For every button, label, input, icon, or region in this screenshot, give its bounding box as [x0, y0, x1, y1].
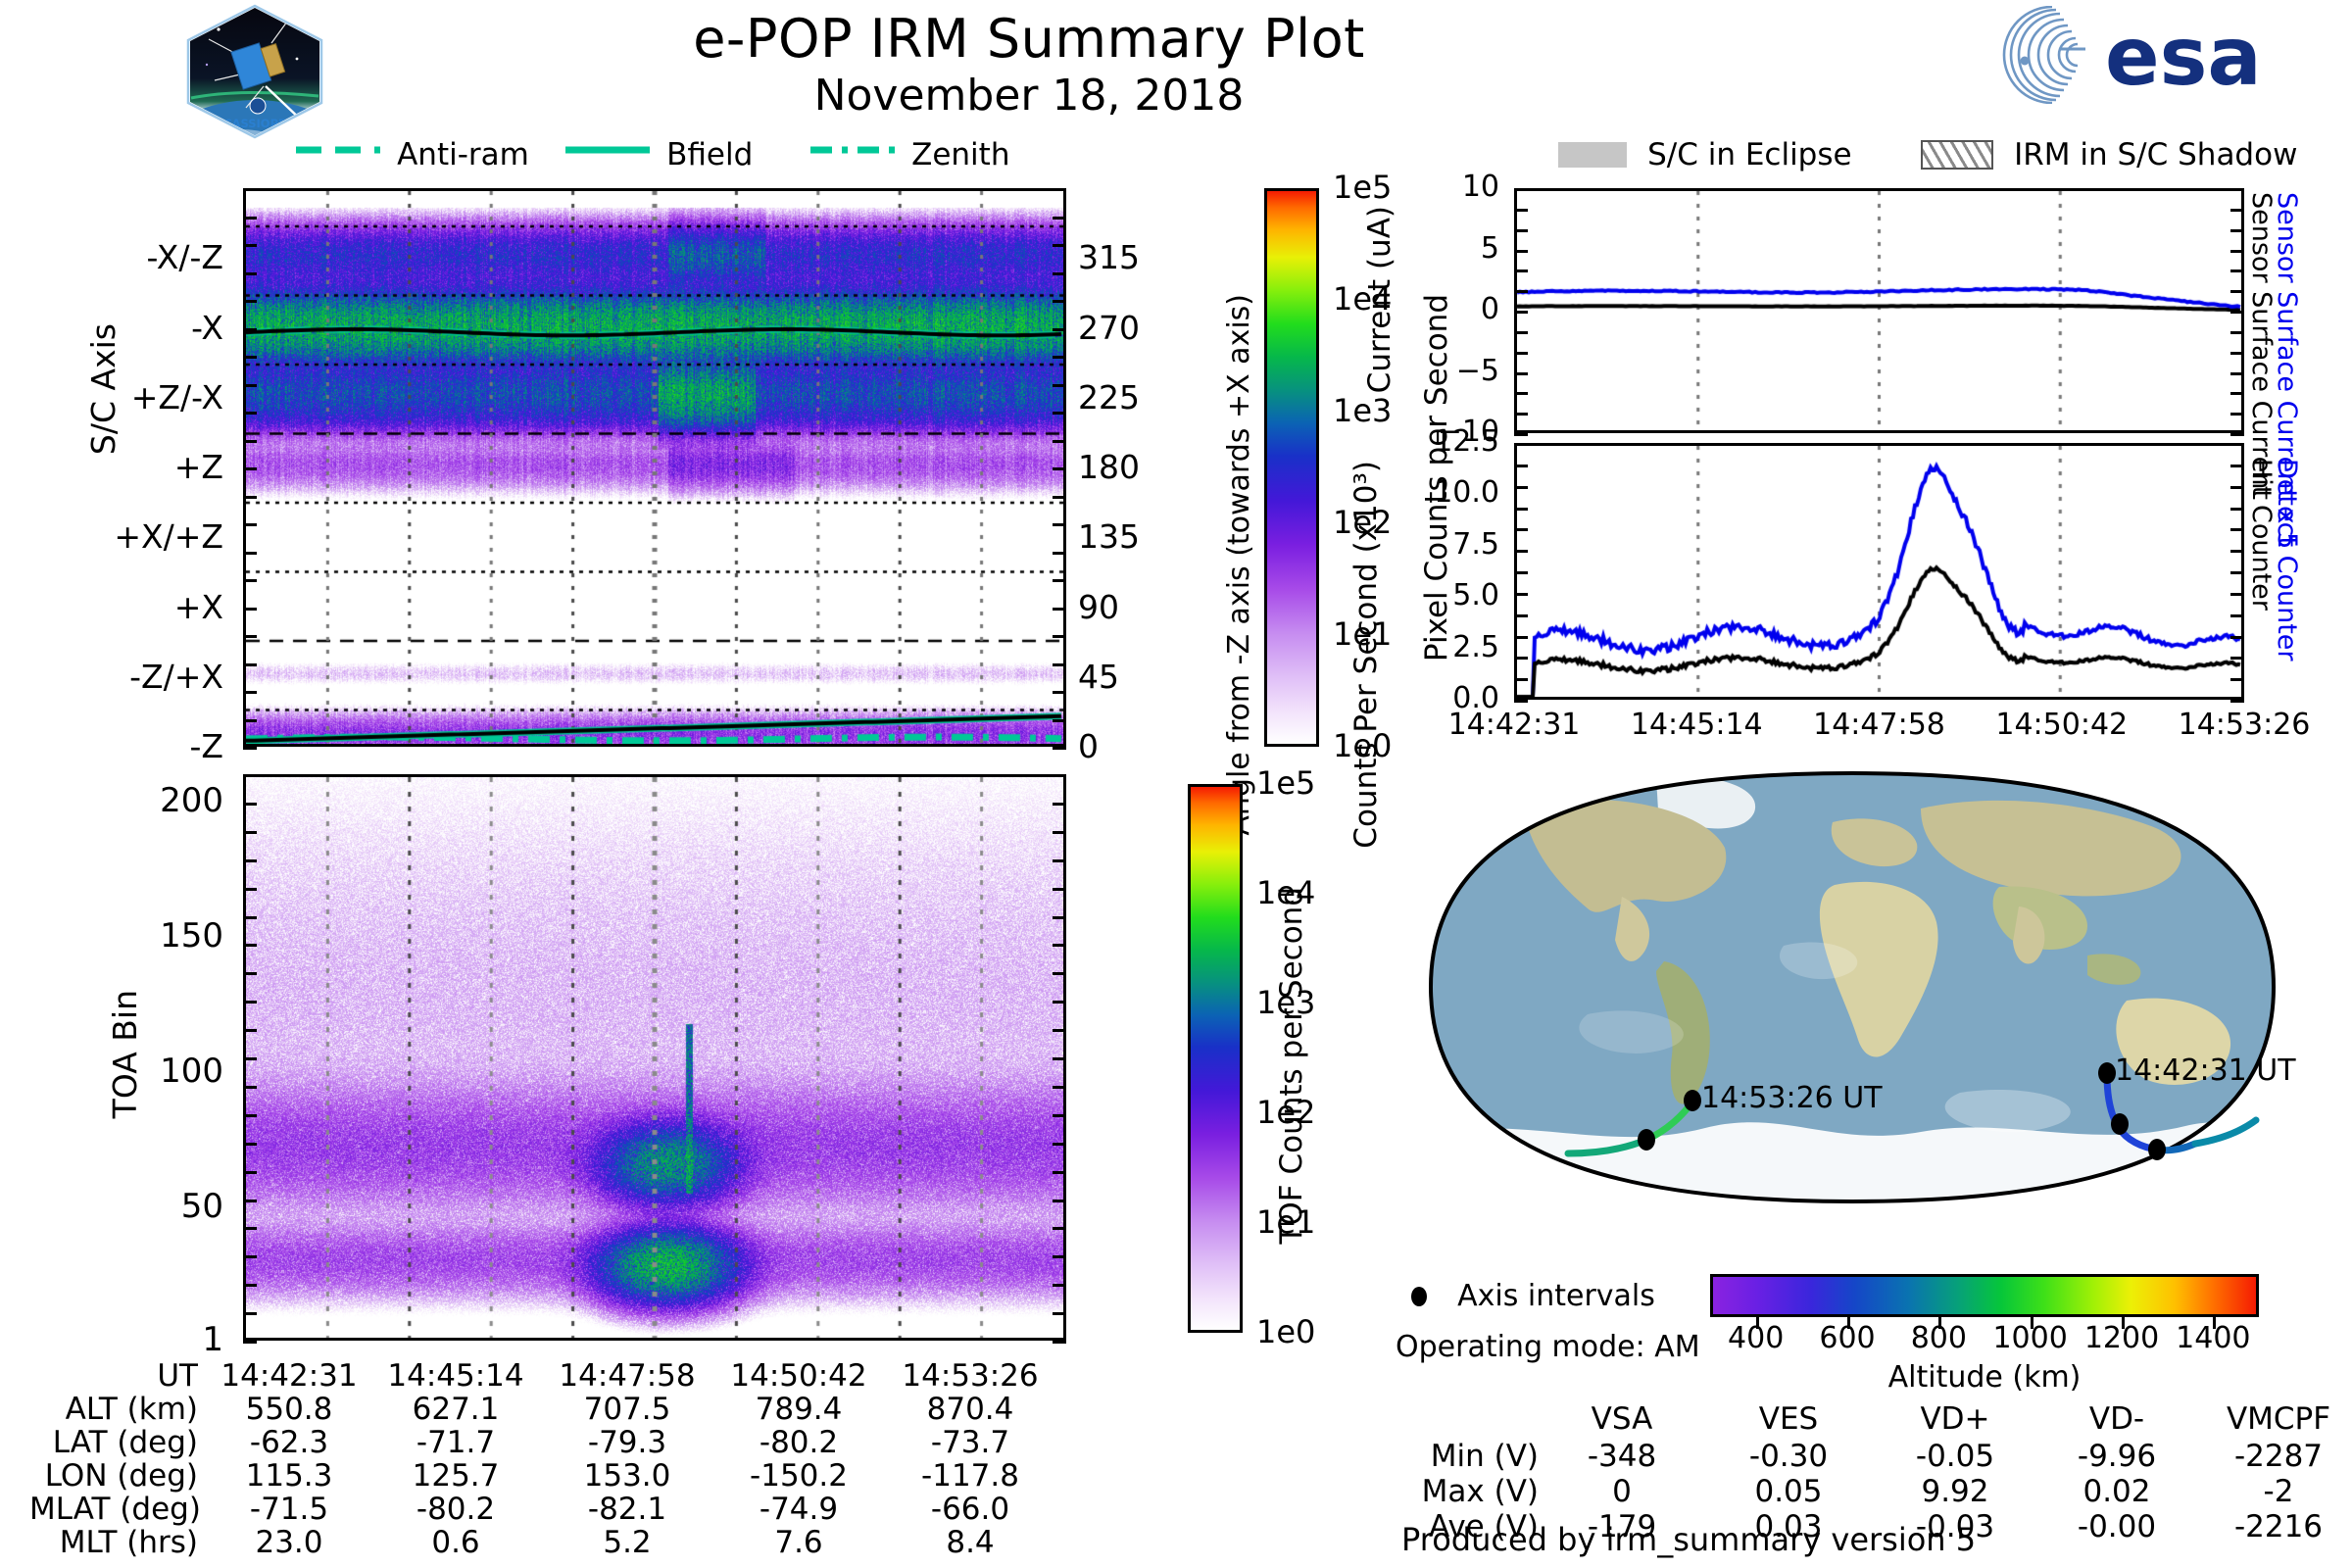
map-start-time-label: 14:42:31 UT [2115, 1053, 2296, 1088]
axis-tick [2230, 188, 2244, 191]
ephem-cell-5-2: 5.2 [549, 1525, 706, 1560]
axis-interval-marker [1684, 1090, 1701, 1111]
ephem-cell-5-4: 8.4 [892, 1525, 1049, 1560]
operating-mode-label: Operating mode: AM [1396, 1330, 1700, 1364]
axis-tick [2230, 614, 2244, 617]
axis-tick [1053, 1001, 1066, 1004]
voltage-col-header-4: VMCPF [2205, 1401, 2352, 1437]
axis-tick [1053, 663, 1066, 666]
axis-tick [2230, 443, 2244, 446]
axis-tick [1514, 372, 1528, 375]
ephem-cell-1-1: 627.1 [377, 1392, 534, 1427]
voltage-cell-1-0: 0 [1548, 1474, 1695, 1509]
axis-tick [243, 663, 257, 666]
eclipse-swatch-icon [1558, 142, 1627, 168]
axis-tick [1514, 311, 1528, 314]
axis-tick [1053, 1057, 1066, 1060]
angle-angle-tick-90: 90 [1078, 588, 1166, 626]
axis-tick [2230, 433, 2244, 436]
ephem-cell-3-0: 115.3 [211, 1458, 367, 1494]
axis-tick [1053, 217, 1066, 220]
toa-ytick-1: 1 [0, 1320, 223, 1359]
axis-tick [243, 523, 257, 526]
axis-tick [2230, 593, 2244, 596]
voltage-row-label-0: Min (V) [1401, 1439, 1539, 1474]
axis-tick [2230, 571, 2244, 574]
axis-tick [1053, 1171, 1066, 1174]
axis-interval-marker [2111, 1113, 2129, 1135]
ephem-cell-4-3: -74.9 [720, 1492, 877, 1527]
ephem-cell-2-3: -80.2 [720, 1425, 877, 1460]
altitude-colorbar-tick-mark [2031, 1317, 2033, 1329]
axis-tick [1053, 244, 1066, 247]
axis-tick [243, 1114, 257, 1117]
axis-tick [1514, 331, 1528, 334]
axis-tick [2230, 550, 2244, 553]
axis-tick [1514, 229, 1528, 232]
axis-tick [1053, 888, 1066, 891]
axis-tick [243, 831, 257, 834]
axis-tick [1053, 608, 1066, 611]
axis-tick [1053, 384, 1066, 387]
axis-tick [243, 440, 257, 443]
axis-tick [243, 272, 257, 275]
voltage-cell-1-4: -2 [2205, 1474, 2352, 1509]
legend-item-zenith: Zenith [808, 137, 1009, 172]
axis-interval-marker [2148, 1139, 2166, 1160]
axis-tick [1514, 508, 1528, 511]
axis-tick [243, 300, 257, 303]
axis-tick [1053, 635, 1066, 638]
angle-angle-tick-225: 225 [1078, 378, 1166, 416]
axis-tick [1053, 1029, 1066, 1032]
altitude-colorbar-tick-mark [2213, 1317, 2216, 1329]
ephem-cell-3-3: -150.2 [720, 1458, 877, 1494]
esa-logo-text: esa [2105, 11, 2262, 104]
axis-tick [243, 1227, 257, 1230]
anti-ram-line-icon [294, 140, 382, 164]
orbit-map: 14:42:31 UT 14:53:26 UT [1411, 769, 2293, 1205]
tof-colorbar-tick-1e5: 1e5 [1256, 764, 1315, 802]
voltage-cell-2-3: -0.00 [2043, 1509, 2190, 1544]
axis-tick [1053, 579, 1066, 582]
ephem-row-label-4: MLAT (deg) [29, 1492, 198, 1527]
voltage-cell-0-1: -0.30 [1715, 1439, 1862, 1474]
tof-colorbar-tick-1e0: 1e0 [1256, 1313, 1315, 1350]
counts-plot [1514, 443, 2244, 700]
axis-tick [1514, 392, 1528, 395]
toa-ytick-labels: 200150100501 [0, 0, 243, 1372]
ephem-cell-2-0: -62.3 [211, 1425, 367, 1460]
axis-tick [1514, 614, 1528, 617]
axis-tick [243, 1029, 257, 1032]
ephem-cell-1-3: 789.4 [720, 1392, 877, 1427]
axis-tick [1053, 440, 1066, 443]
ephem-cell-5-1: 0.6 [377, 1525, 534, 1560]
axis-tick [1514, 352, 1528, 355]
axis-tick [1053, 272, 1066, 275]
ephem-cell-5-3: 7.6 [720, 1525, 877, 1560]
ephem-cell-0-1: 14:45:14 [377, 1358, 534, 1394]
angle-spectrogram-plot [243, 188, 1066, 747]
axis-tick [1053, 300, 1066, 303]
axis-tick [1514, 250, 1528, 253]
counts-xtick-3: 14:50:42 [1969, 708, 2155, 742]
voltage-cell-0-4: -2287 [2205, 1439, 2352, 1474]
ephem-row-label-3: LON (deg) [29, 1458, 198, 1494]
axis-tick [243, 244, 257, 247]
axis-tick [1053, 972, 1066, 975]
axis-tick [243, 691, 257, 694]
altitude-colorbar [1710, 1274, 2259, 1317]
ephem-cell-4-2: -82.1 [549, 1492, 706, 1527]
axis-tick [243, 859, 257, 862]
axis-tick [1053, 1200, 1066, 1202]
axis-tick [2230, 508, 2244, 511]
axis-tick [1053, 859, 1066, 862]
angle-ytick-right-labels: 31527022518013590450 [1068, 0, 1225, 784]
axis-tick [243, 803, 257, 806]
ephem-row-label-1: ALT (km) [29, 1392, 198, 1427]
angle-angle-tick-135: 135 [1078, 517, 1166, 556]
axis-tick [1514, 636, 1528, 639]
bfield-line-icon [563, 140, 652, 164]
axis-tick [2230, 372, 2244, 375]
counts-ytick-labels: 12.510.07.55.02.50.0 [1372, 0, 1509, 784]
axis-tick [2230, 209, 2244, 212]
altitude-colorbar-tick-mark [2122, 1317, 2125, 1329]
toa-spectrogram-plot [243, 774, 1066, 1341]
ephem-cell-2-2: -79.3 [549, 1425, 706, 1460]
ephem-cell-1-0: 550.8 [211, 1392, 367, 1427]
zenith-line-icon [808, 140, 897, 164]
axis-tick [243, 412, 257, 415]
axis-tick [2230, 465, 2244, 467]
axis-tick [1514, 209, 1528, 212]
counts-ytick-4: 2.5 [1372, 630, 1499, 664]
axis-tick [243, 888, 257, 891]
axis-tick [243, 328, 257, 331]
legend-item-sc-eclipse: S/C in Eclipse [1558, 137, 1852, 172]
axis-tick [243, 1001, 257, 1004]
legend-item-bfield: Bfield [563, 137, 753, 172]
axis-tick [2230, 331, 2244, 334]
legend-label-irm-shadow: IRM in S/C Shadow [2014, 137, 2297, 172]
axis-tick [1053, 1312, 1066, 1315]
axis-tick [2230, 657, 2244, 660]
axis-tick [1053, 747, 1066, 750]
axis-tick [1053, 1114, 1066, 1117]
voltage-cell-1-3: 0.02 [2043, 1474, 2190, 1509]
legend-label-zenith: Zenith [911, 137, 1009, 172]
axis-tick [1053, 1143, 1066, 1146]
toa-ytick-100: 100 [0, 1052, 223, 1091]
axis-tick [243, 188, 257, 191]
axis-tick [1053, 552, 1066, 555]
axis-tick [1053, 691, 1066, 694]
axis-interval-marker [2098, 1062, 2116, 1084]
axis-tick [1053, 188, 1066, 191]
axis-tick [1053, 1341, 1066, 1344]
counts-ytick-1: 10.0 [1372, 475, 1499, 510]
axis-tick [1053, 803, 1066, 806]
ephem-cell-1-2: 707.5 [549, 1392, 706, 1427]
axis-tick [1514, 528, 1528, 531]
axis-tick [243, 579, 257, 582]
axis-tick [2230, 678, 2244, 681]
axis-tick [1514, 465, 1528, 467]
angle-angle-tick-270: 270 [1078, 309, 1166, 347]
axis-tick [2230, 352, 2244, 355]
counts-xtick-1: 14:45:14 [1603, 708, 1789, 742]
axis-tick [1514, 443, 1528, 446]
axis-tick [1053, 328, 1066, 331]
counts-ytick-3: 5.0 [1372, 578, 1499, 612]
axis-tick [1514, 188, 1528, 191]
counts-ytick-2: 7.5 [1372, 527, 1499, 562]
legend-item-irm-shadow: IRM in S/C Shadow [1921, 137, 2297, 172]
axis-tick [1514, 413, 1528, 416]
axis-tick [2230, 269, 2244, 272]
toa-ytick-150: 150 [0, 916, 223, 955]
axis-tick [1053, 944, 1066, 947]
ephem-cell-0-2: 14:47:58 [549, 1358, 706, 1394]
axis-tick [2230, 700, 2244, 703]
axis-tick [243, 747, 257, 750]
axis-tick [2230, 392, 2244, 395]
voltage-col-header-0: VSA [1548, 1401, 1695, 1437]
axis-tick [1514, 433, 1528, 436]
counts-right-label-black: Hit Counter [2246, 459, 2277, 611]
axis-tick [1514, 290, 1528, 293]
axis-tick [1053, 356, 1066, 359]
axis-interval-legend-label: Axis intervals [1457, 1279, 1655, 1313]
altitude-colorbar-tick-mark [1938, 1317, 1941, 1329]
axis-tick [243, 356, 257, 359]
axis-tick [1053, 719, 1066, 722]
axis-tick [243, 1312, 257, 1315]
axis-tick [243, 496, 257, 499]
toa-ytick-200: 200 [0, 781, 223, 820]
axis-tick [243, 608, 257, 611]
legend-item-anti-ram: Anti-ram [294, 137, 529, 172]
axis-interval-legend: Axis intervals [1411, 1279, 1655, 1313]
counts-xtick-labels: 14:42:3114:45:1414:47:5814:50:4214:53:26 [0, 708, 2352, 766]
axis-tick [243, 1200, 257, 1202]
axis-tick [243, 944, 257, 947]
axis-tick [1514, 657, 1528, 660]
axis-tick [1053, 831, 1066, 834]
axis-tick [1053, 1255, 1066, 1258]
axis-tick [243, 1143, 257, 1146]
altitude-colorbar-label: Altitude (km) [1710, 1360, 2259, 1395]
counts-xtick-0: 14:42:31 [1421, 708, 1607, 742]
ephem-cell-2-4: -73.7 [892, 1425, 1049, 1460]
axis-tick [1053, 1086, 1066, 1089]
axis-tick [243, 1057, 257, 1060]
axis-tick [1053, 412, 1066, 415]
voltage-cell-0-0: -348 [1548, 1439, 1695, 1474]
legend-label-sc-eclipse: S/C in Eclipse [1647, 137, 1852, 172]
axis-tick [1514, 269, 1528, 272]
voltage-col-header-2: VD+ [1882, 1401, 2029, 1437]
ephem-cell-4-0: -71.5 [211, 1492, 367, 1527]
ephem-cell-3-1: 125.7 [377, 1458, 534, 1494]
voltage-cell-1-2: 9.92 [1882, 1474, 2029, 1509]
axis-tick [1053, 496, 1066, 499]
axis-tick [2230, 250, 2244, 253]
ephem-cell-0-0: 14:42:31 [211, 1358, 367, 1394]
shadow-swatch-icon [1921, 140, 1993, 170]
axis-tick [2230, 413, 2244, 416]
ephem-cell-0-3: 14:50:42 [720, 1358, 877, 1394]
legend-right: S/C in Eclipse IRM in S/C Shadow [1558, 135, 2332, 174]
counts-xtick-2: 14:47:58 [1787, 708, 1973, 742]
axis-tick [1514, 700, 1528, 703]
tof-counts-colorbar [1188, 784, 1243, 1333]
axis-tick [243, 719, 257, 722]
altitude-colorbar-tick-mark [1847, 1317, 1850, 1329]
axis-tick [243, 384, 257, 387]
axis-tick [243, 1171, 257, 1174]
axis-interval-marker [1638, 1129, 1655, 1151]
ephem-cell-0-4: 14:53:26 [892, 1358, 1049, 1394]
voltage-cell-0-3: -9.96 [2043, 1439, 2190, 1474]
axis-tick [243, 916, 257, 919]
axis-tick [243, 774, 257, 777]
legend-label-bfield: Bfield [666, 137, 753, 172]
current-plot [1514, 188, 2244, 433]
axis-tick [1514, 550, 1528, 553]
counts-xtick-4: 14:53:26 [2151, 708, 2337, 742]
ephem-row-label-2: LAT (deg) [29, 1425, 198, 1460]
axis-tick [243, 217, 257, 220]
axis-tick [243, 552, 257, 555]
tof-counts-colorbar-label: TOF Counts per Second [1274, 887, 1309, 1245]
axis-tick [2230, 229, 2244, 232]
esa-logo: esa [1999, 6, 2342, 104]
axis-tick [2230, 636, 2244, 639]
axis-tick [243, 972, 257, 975]
axis-tick [243, 635, 257, 638]
angle-angle-tick-45: 45 [1078, 658, 1166, 696]
ephem-row-label-5: MLT (hrs) [29, 1525, 198, 1560]
axis-tick [243, 467, 257, 470]
ephem-cell-1-4: 870.4 [892, 1392, 1049, 1427]
axis-tick [2230, 311, 2244, 314]
axis-interval-marker-icon [1411, 1287, 1427, 1306]
voltage-cell-0-2: -0.05 [1882, 1439, 2029, 1474]
altitude-colorbar-tick-mark [1756, 1317, 1759, 1329]
ephem-cell-4-1: -80.2 [377, 1492, 534, 1527]
legend-left: Anti-ram Bfield Zenith [294, 137, 1039, 176]
ephem-cell-4-4: -66.0 [892, 1492, 1049, 1527]
axis-tick [243, 1255, 257, 1258]
ephem-row-label-0: UT [29, 1358, 198, 1394]
axis-tick [243, 1284, 257, 1287]
axis-tick [1514, 571, 1528, 574]
axis-tick [2230, 528, 2244, 531]
ephem-cell-2-1: -71.7 [377, 1425, 534, 1460]
axis-tick [243, 1086, 257, 1089]
axis-tick [1514, 486, 1528, 489]
current-right-label-black: Sensor Surface Current [2246, 192, 2277, 500]
axis-tick [1053, 1227, 1066, 1230]
produced-by-footer: Produced by irm_summary version 5 [1401, 1521, 1976, 1558]
ephem-cell-3-4: -117.8 [892, 1458, 1049, 1494]
axis-tick [243, 1341, 257, 1344]
axis-tick [1053, 1284, 1066, 1287]
axis-tick [1514, 678, 1528, 681]
axis-tick [2230, 290, 2244, 293]
counts-ytick-0: 12.5 [1372, 424, 1499, 459]
ephem-cell-5-0: 23.0 [211, 1525, 367, 1560]
axis-tick [1053, 774, 1066, 777]
ephem-cell-3-2: 153.0 [549, 1458, 706, 1494]
axis-tick [1053, 467, 1066, 470]
voltage-cell-1-1: 0.05 [1715, 1474, 1862, 1509]
axis-tick [1053, 523, 1066, 526]
axis-tick [2230, 486, 2244, 489]
angle-angle-tick-315: 315 [1078, 238, 1166, 276]
toa-ytick-50: 50 [0, 1187, 223, 1226]
axis-tick [1053, 916, 1066, 919]
voltage-cell-2-4: -2216 [2205, 1509, 2352, 1544]
legend-label-anti-ram: Anti-ram [397, 137, 529, 172]
voltage-col-header-1: VES [1715, 1401, 1862, 1437]
voltage-col-header-3: VD- [2043, 1401, 2190, 1437]
angle-angle-tick-180: 180 [1078, 448, 1166, 486]
map-end-time-label: 14:53:26 UT [1701, 1081, 1883, 1115]
axis-tick [1514, 593, 1528, 596]
voltage-row-label-1: Max (V) [1401, 1474, 1539, 1509]
